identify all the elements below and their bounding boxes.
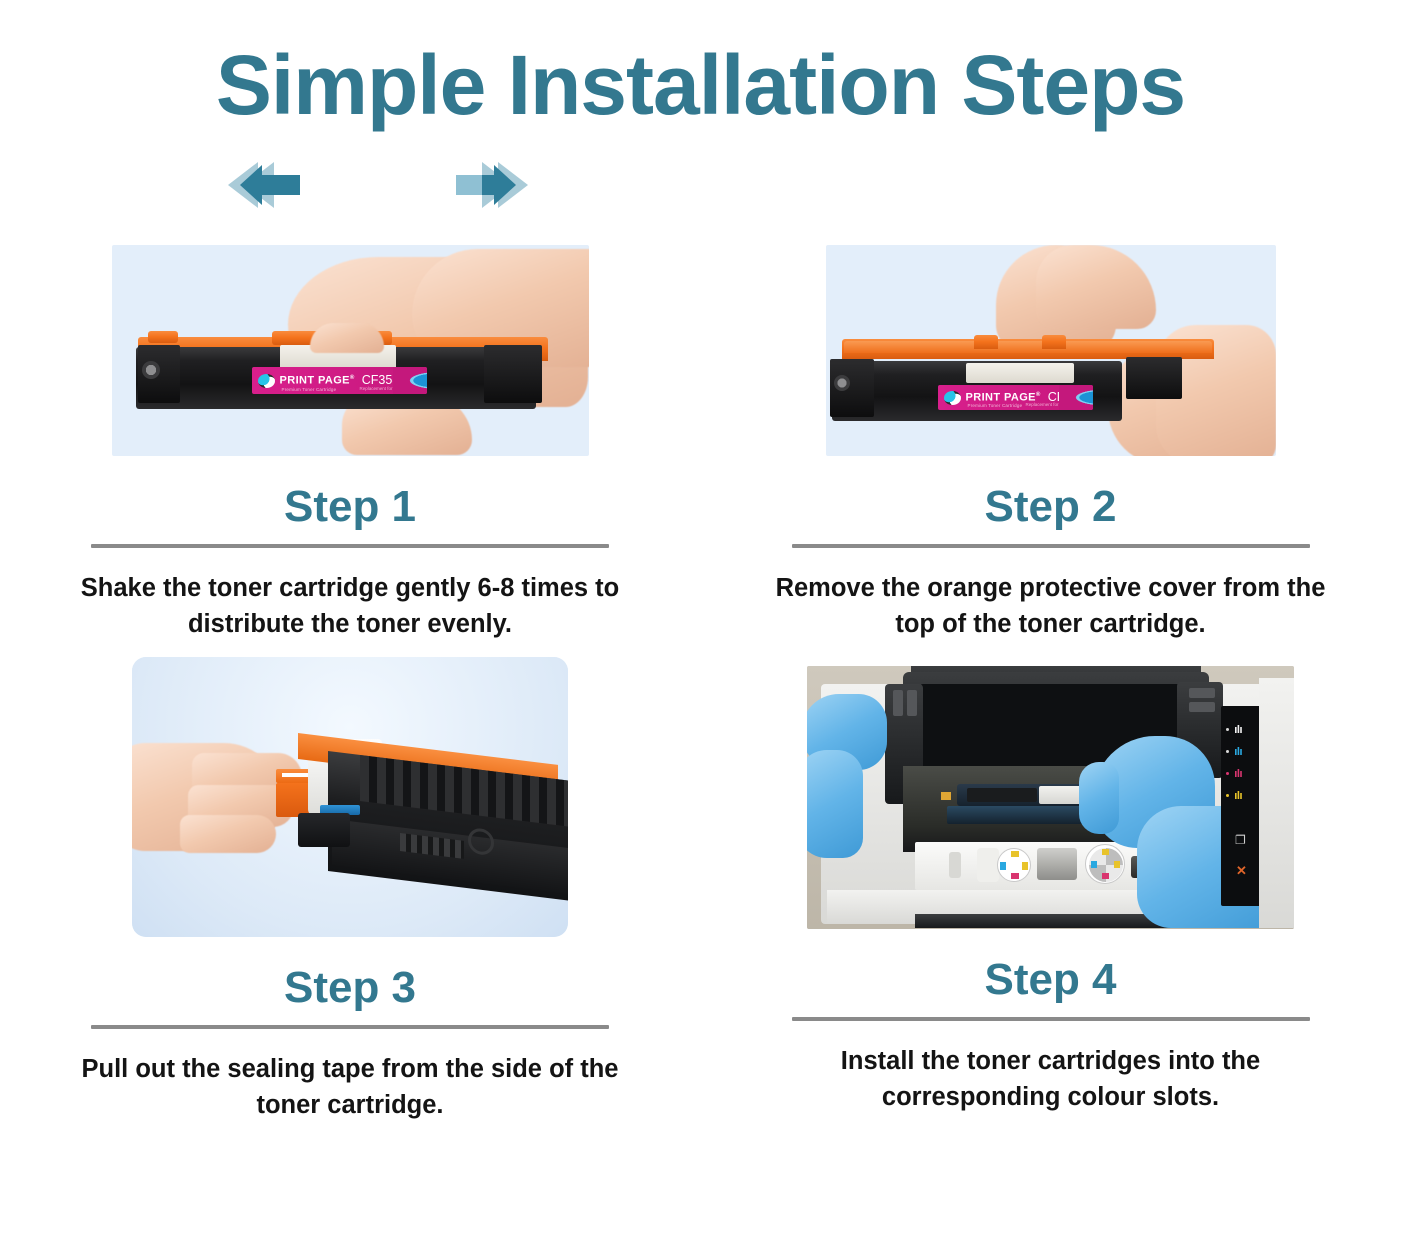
steps-row-2: Step 3 Pull out the sealing tape from th… xyxy=(0,657,1401,1124)
page-title: Simple Installation Steps xyxy=(0,40,1401,131)
step-2-photo: PRINT PAGE® CF353A Premium Toner Cartrid… xyxy=(826,245,1276,456)
step-3-body: Pull out the sealing tape from the side … xyxy=(70,1051,630,1123)
step-2-divider xyxy=(792,544,1310,548)
label-tagline: Premium Toner Cartridge xyxy=(282,387,337,392)
brand-logo-icon xyxy=(944,391,961,405)
step-1-photo: PRINT PAGE® CF353A Premium Toner Cartrid… xyxy=(112,245,589,456)
step-4-body: Install the toner cartridges into the co… xyxy=(771,1043,1331,1115)
label-replacement-text: Replacement for xyxy=(1025,402,1058,407)
toner-level-cyan-icon xyxy=(1235,746,1242,755)
step-1-title: Step 1 xyxy=(284,484,416,530)
toner-level-yellow-icon xyxy=(1235,790,1242,799)
label-tagline: Premium Toner Cartridge xyxy=(968,403,1023,408)
label-replacement-text: Replacement for xyxy=(359,386,392,391)
registered-mark: ® xyxy=(1036,392,1041,398)
step-3-title: Step 3 xyxy=(284,965,416,1011)
step-4-title: Step 4 xyxy=(984,957,1116,1003)
paper-button-icon[interactable]: ❐ xyxy=(1235,834,1246,846)
arrow-left-icon xyxy=(228,162,300,208)
step-4-photo: ❐ ✕ xyxy=(807,666,1294,929)
cartridge-label: PRINT PAGE® CF353A Premium Toner Cartrid… xyxy=(252,367,427,394)
step-card-4: ❐ ✕ Step 4 Install the toner cartridges … xyxy=(700,657,1401,1124)
cancel-button-icon[interactable]: ✕ xyxy=(1236,864,1247,877)
step-card-2: PRINT PAGE® CF353A Premium Toner Cartrid… xyxy=(700,236,1401,643)
step-3-divider xyxy=(91,1025,609,1029)
brand-name: PRINT PAGE xyxy=(280,374,350,386)
installation-steps-infographic: Simple Installation Steps xyxy=(0,0,1401,1242)
toner-level-black-icon xyxy=(1235,724,1242,733)
printer-control-panel[interactable]: ❐ ✕ xyxy=(1221,706,1263,906)
step-card-3: Step 3 Pull out the sealing tape from th… xyxy=(0,657,700,1124)
step-3-photo xyxy=(132,657,568,937)
colour-slot-diagram-icon xyxy=(997,848,1031,882)
brand-swoosh-icon xyxy=(393,367,427,394)
arrow-decoration-group xyxy=(228,158,538,212)
step-card-1: PRINT PAGE® CF353A Premium Toner Cartrid… xyxy=(0,236,700,643)
arrow-right-icon xyxy=(456,162,528,208)
cartridge-label: PRINT PAGE® CF353A Premium Toner Cartrid… xyxy=(938,385,1093,410)
cartridge-orientation-diagram-icon xyxy=(1085,844,1125,884)
step-1-body: Shake the toner cartridge gently 6-8 tim… xyxy=(70,570,630,642)
toner-level-magenta-icon xyxy=(1235,768,1242,777)
step-1-divider xyxy=(91,544,609,548)
steps-grid: PRINT PAGE® CF353A Premium Toner Cartrid… xyxy=(0,236,1401,1123)
registered-mark: ® xyxy=(350,375,355,381)
step-2-body: Remove the orange protective cover from … xyxy=(771,570,1331,642)
step-4-divider xyxy=(792,1017,1310,1021)
step-2-title: Step 2 xyxy=(984,484,1116,530)
brand-swoosh-icon xyxy=(1059,385,1093,410)
brand-logo-icon xyxy=(258,374,275,388)
steps-row-1: PRINT PAGE® CF353A Premium Toner Cartrid… xyxy=(0,236,1401,643)
